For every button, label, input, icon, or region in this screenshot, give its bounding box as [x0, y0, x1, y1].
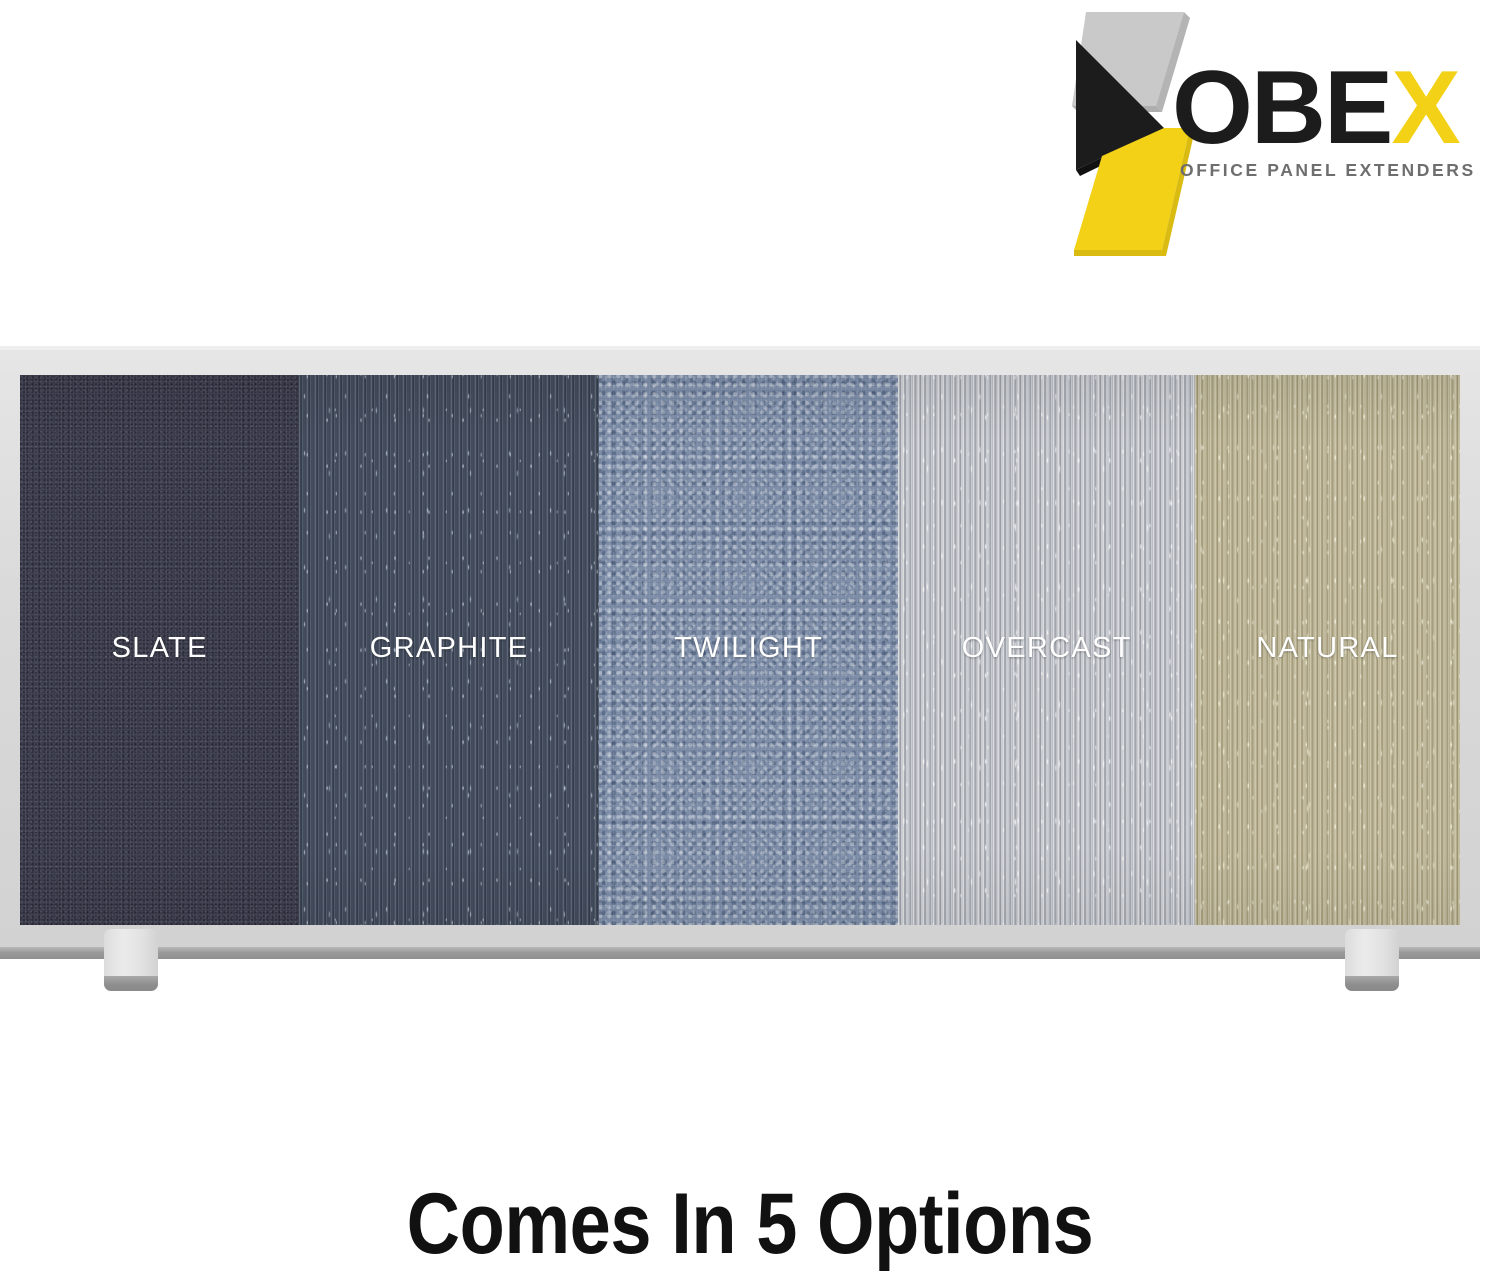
swatch-overcast: OVERCAST — [898, 375, 1195, 925]
swatch-label-slate: SLATE — [112, 632, 208, 665]
panel-foot-right — [1345, 929, 1399, 991]
swatch-label-overcast: OVERCAST — [962, 632, 1132, 665]
swatch-label-graphite: GRAPHITE — [370, 632, 529, 665]
foot-tip — [104, 976, 158, 991]
swatch-graphite: GRAPHITE — [299, 375, 599, 925]
caption-text: Comes In 5 Options — [105, 1176, 1395, 1272]
swatch-twilight: TWILIGHT — [599, 375, 899, 925]
swatch-slate: SLATE — [20, 375, 299, 925]
product-image-canvas: OBEX OFFICE PANEL EXTENDERS SLATE GRA — [0, 0, 1500, 1283]
foot-body — [104, 929, 158, 983]
foot-body — [1345, 929, 1399, 983]
panel-extender-product: SLATE GRAPHITE TWILIGHT — [0, 346, 1500, 1006]
obex-logo: OBEX OFFICE PANEL EXTENDERS — [1068, 8, 1468, 258]
obex-wordmark: OBEX — [1172, 56, 1472, 206]
wordmark-x: X — [1391, 50, 1458, 166]
swatch-label-natural: NATURAL — [1256, 632, 1398, 665]
fabric-swatch-strip: SLATE GRAPHITE TWILIGHT — [20, 375, 1460, 925]
logo-tagline: OFFICE PANEL EXTENDERS — [1180, 160, 1476, 181]
panel-frame: SLATE GRAPHITE TWILIGHT — [0, 346, 1480, 953]
panel-bottom-rail — [0, 947, 1480, 959]
wordmark-obe: OBE — [1172, 50, 1391, 166]
wordmark-text: OBEX — [1172, 56, 1459, 160]
frame-top-highlight — [0, 346, 1480, 350]
foot-tip — [1345, 976, 1399, 991]
swatch-label-twilight: TWILIGHT — [674, 632, 823, 665]
swatch-natural: NATURAL — [1195, 375, 1460, 925]
panel-foot-left — [104, 929, 158, 991]
